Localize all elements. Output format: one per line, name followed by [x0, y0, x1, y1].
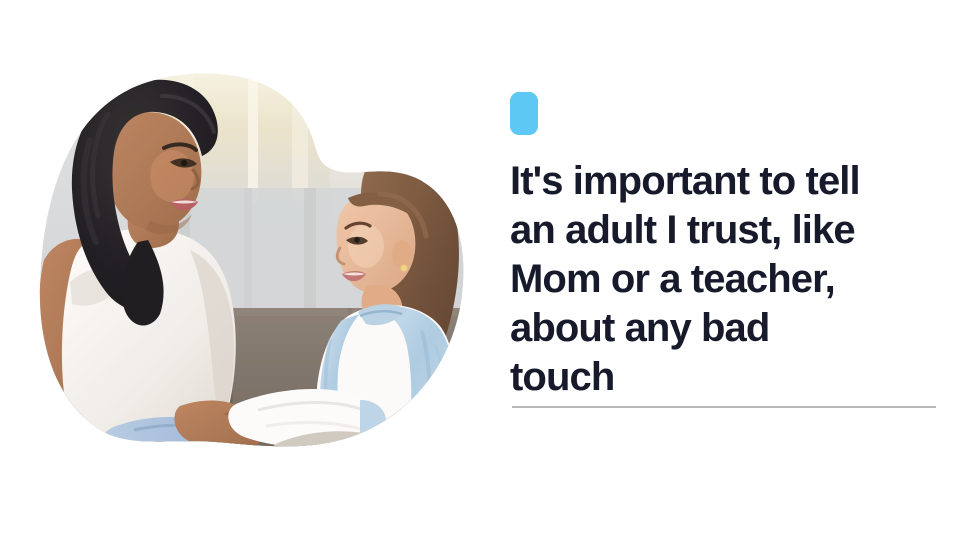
blob-masked-photo [30, 70, 470, 460]
divider [512, 406, 936, 408]
text-panel: It's important to tell an adult I trust,… [510, 92, 940, 422]
slide-canvas: It's important to tell an adult I trust,… [0, 0, 960, 540]
photo-panel [30, 70, 470, 460]
blue-rounded-bar-icon [510, 92, 538, 135]
page-title: It's important to tell an adult I trust,… [510, 135, 940, 402]
